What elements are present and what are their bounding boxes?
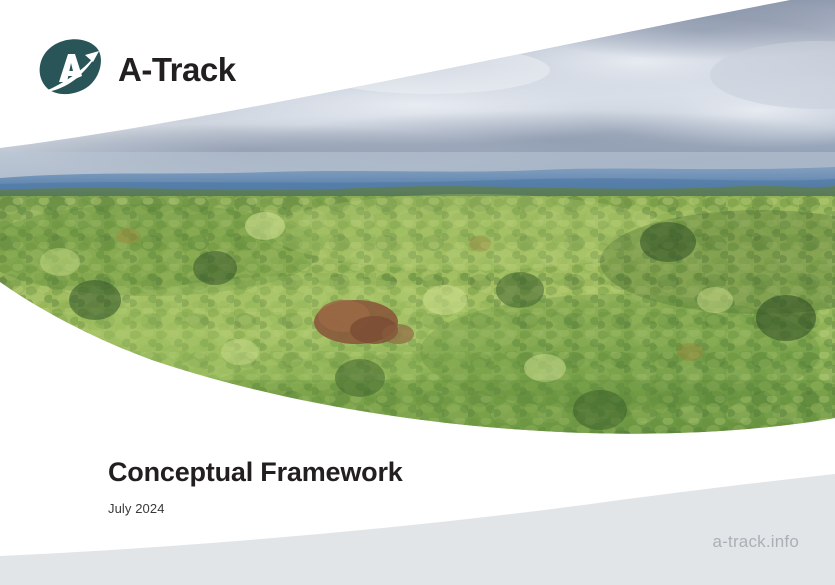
title-block: Conceptual Framework July 2024	[108, 458, 403, 516]
page-date: July 2024	[108, 501, 403, 516]
brand-logo-lockup[interactable]: A-Track	[38, 38, 236, 100]
page-title: Conceptual Framework	[108, 458, 403, 488]
footer-url[interactable]: a-track.info	[713, 532, 800, 552]
brand-wordmark: A-Track	[118, 53, 236, 86]
a-track-leaf-arrow-logo-icon	[38, 38, 104, 100]
title-slide: A-Track Conceptual Framework July 2024 a…	[0, 0, 835, 585]
